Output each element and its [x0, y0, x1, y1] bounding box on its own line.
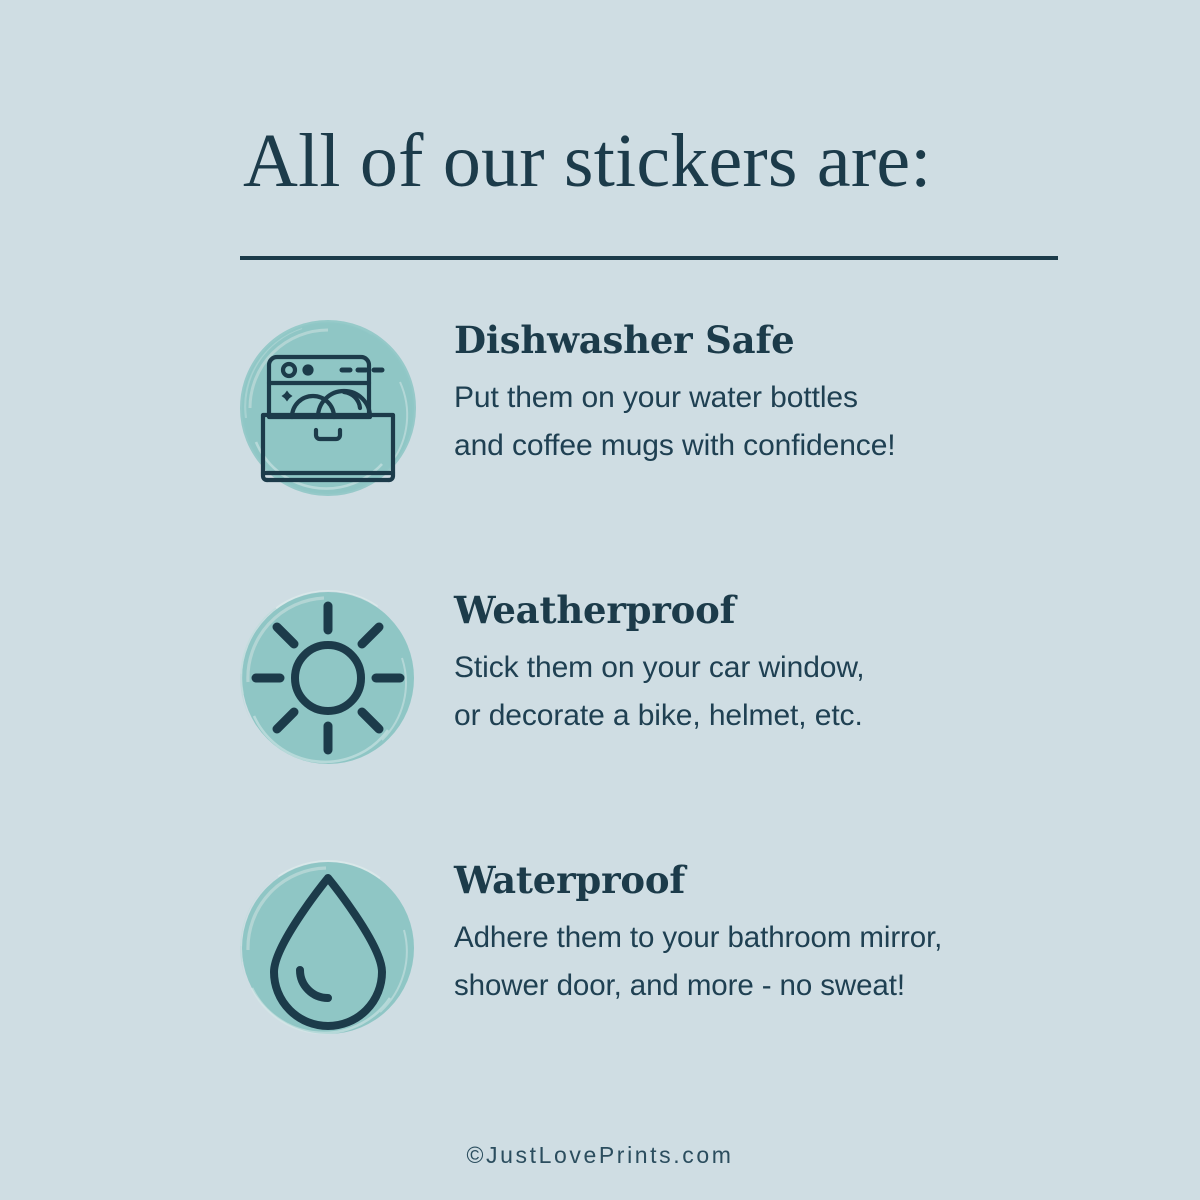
feature-title: Dishwasher Safe: [454, 318, 1174, 362]
feature-title: Waterproof: [454, 858, 1174, 902]
title-divider: [240, 256, 1058, 260]
feature-row-waterproof: Waterproof Adhere them to your bathroom …: [232, 852, 1172, 1052]
water-drop-icon: [232, 852, 424, 1044]
feature-description: Put them on your water bottles and coffe…: [454, 374, 1174, 470]
feature-text-weatherproof: Weatherproof Stick them on your car wind…: [454, 588, 1174, 740]
sun-icon: [232, 582, 424, 774]
feature-text-dishwasher: Dishwasher Safe Put them on your water b…: [454, 318, 1174, 470]
footer-credit: ©JustLovePrints.com: [0, 1142, 1200, 1169]
feature-description: Stick them on your car window, or decora…: [454, 644, 1174, 740]
feature-title: Weatherproof: [454, 588, 1174, 632]
dishwasher-icon: [232, 312, 424, 504]
feature-text-waterproof: Waterproof Adhere them to your bathroom …: [454, 858, 1174, 1010]
feature-row-weatherproof: Weatherproof Stick them on your car wind…: [232, 582, 1172, 782]
feature-row-dishwasher: Dishwasher Safe Put them on your water b…: [232, 312, 1172, 512]
sticker-features-graphic: All of our stickers are:: [0, 0, 1200, 1200]
feature-description: Adhere them to your bathroom mirror, sho…: [454, 914, 1174, 1010]
page-title: All of our stickers are:: [243, 118, 1163, 204]
